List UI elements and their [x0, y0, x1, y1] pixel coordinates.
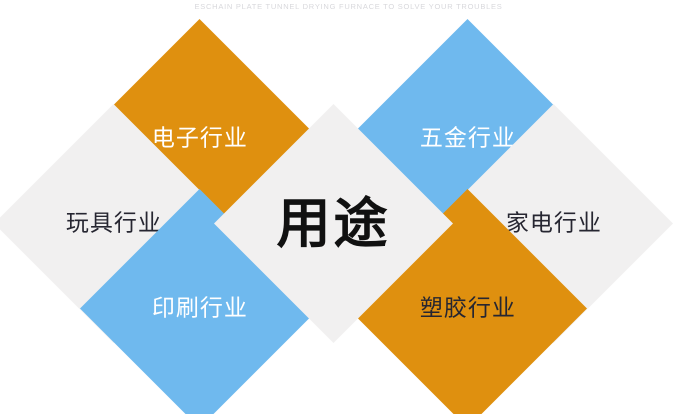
diamond-label-plastics: 塑胶行业: [420, 297, 516, 320]
diagram-canvas: ESCHAIN PLATE TUNNEL DRYING FURNACE TO S…: [0, 0, 697, 414]
diamond-label-toys: 玩具行业: [66, 212, 162, 235]
diamond-label-electronics: 电子行业: [152, 127, 248, 150]
diamond-label-printing: 印刷行业: [152, 297, 248, 320]
diamond-label-hardware: 五金行业: [420, 127, 516, 150]
diamond-grid: 电子行业 五金行业 玩具行业 家电行业 印刷行业 塑胶行业 用途: [0, 0, 697, 414]
diamond-label-center: 用途: [277, 197, 391, 251]
diamond-label-appliances: 家电行业: [506, 212, 602, 235]
